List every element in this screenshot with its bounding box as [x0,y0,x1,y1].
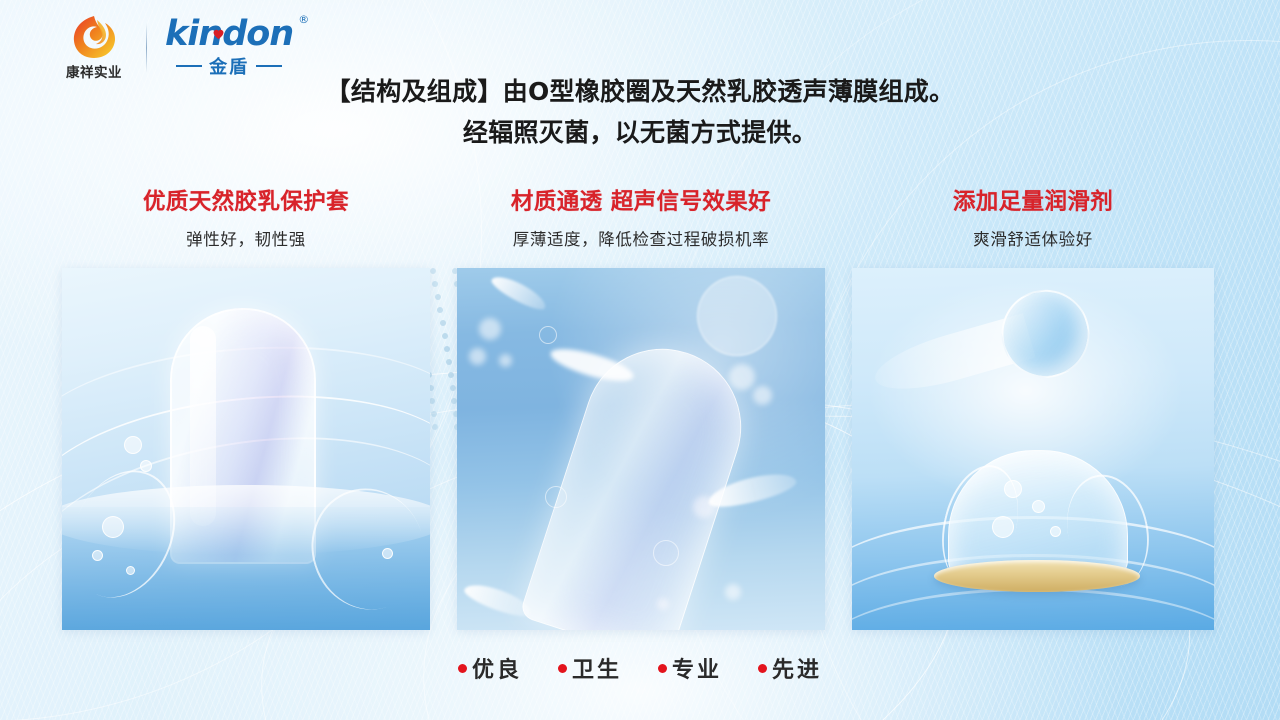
tag-item-1[interactable]: 优良 [458,652,522,684]
feature-image-1 [62,268,430,630]
feature-image-3 [852,268,1214,630]
gold-ring-base [934,560,1140,592]
water-droplet-2 [140,460,152,472]
feature-subheading-1: 弹性好，韧性强 [62,226,430,250]
dome-droplet-4 [1050,526,1061,537]
registered-trademark-icon: ® [298,14,308,25]
kindon-rule-right [256,65,282,67]
small-bubble-2 [653,540,679,566]
red-dot-icon [758,664,767,673]
bokeh-3 [499,354,512,367]
page-title-line-2: 经辐照灭菌，以无菌方式提供。 [0,113,1280,154]
bokeh-4 [729,364,755,390]
tag-item-3[interactable]: 专业 [658,652,722,684]
red-dot-icon [658,664,667,673]
small-bubble-3 [539,326,557,344]
feature-column-1: 优质天然胶乳保护套 弹性好，韧性强 [62,188,430,250]
brand-logo-bar: 康祥实业 kindon ® 金盾 [56,14,293,81]
slide-canvas: 康祥实业 kindon ® 金盾 【结构及组成】由O型橡胶圈及天然乳胶透声薄膜组… [0,0,1280,720]
feature-subheading-3: 爽滑舒适体验好 [852,226,1214,250]
tag-label-2: 卫生 [572,652,622,684]
tag-label-1: 优良 [472,652,522,684]
kangxiang-logo: 康祥实业 [56,14,132,81]
tag-label-3: 专业 [672,652,722,684]
kindon-rule-left [176,65,202,67]
feature-heading-2: 材质通透 超声信号效果好 [457,188,825,216]
flame-swirl-logo-icon [70,14,118,60]
bokeh-5 [753,386,772,405]
feature-image-2 [457,268,825,630]
kindon-logo: kindon ® 金盾 [161,17,293,79]
bokeh-2 [469,348,486,365]
feature-column-3: 添加足量润滑剂 爽滑舒适体验好 [852,188,1214,250]
red-dot-icon [458,664,467,673]
feature-heading-3: 添加足量润滑剂 [852,188,1214,216]
tag-item-4[interactable]: 先进 [758,652,822,684]
red-dot-icon [558,664,567,673]
logo-divider [146,23,147,73]
water-droplet-1 [124,436,142,454]
kindon-wordmark-text: kindon [165,14,293,54]
water-droplet-4 [92,550,103,561]
bokeh-7 [725,584,741,600]
feature-subheading-2: 厚薄适度，降低检查过程破损机率 [457,226,825,250]
tag-item-2[interactable]: 卫生 [558,652,622,684]
tag-label-4: 先进 [772,652,822,684]
kindon-wordmark: kindon ® [165,17,293,52]
bubble-large-topright [697,276,777,356]
feature-heading-1: 优质天然胶乳保护套 [62,188,430,216]
small-bubble-1 [545,486,567,508]
water-droplet-6 [382,548,393,559]
water-droplet-3 [102,516,124,538]
bokeh-1 [479,318,501,340]
bottom-tag-list: 优良 卫生 专业 先进 [0,652,1280,684]
water-droplet-5 [126,566,135,575]
heart-icon [213,29,224,40]
page-title: 【结构及组成】由O型橡胶圈及天然乳胶透声薄膜组成。 经辐照灭菌，以无菌方式提供。 [0,72,1280,153]
feature-column-2: 材质通透 超声信号效果好 厚薄适度，降低检查过程破损机率 [457,188,825,250]
page-title-line-1: 【结构及组成】由O型橡胶圈及天然乳胶透声薄膜组成。 [0,72,1280,113]
dome-droplet-2 [1032,500,1045,513]
